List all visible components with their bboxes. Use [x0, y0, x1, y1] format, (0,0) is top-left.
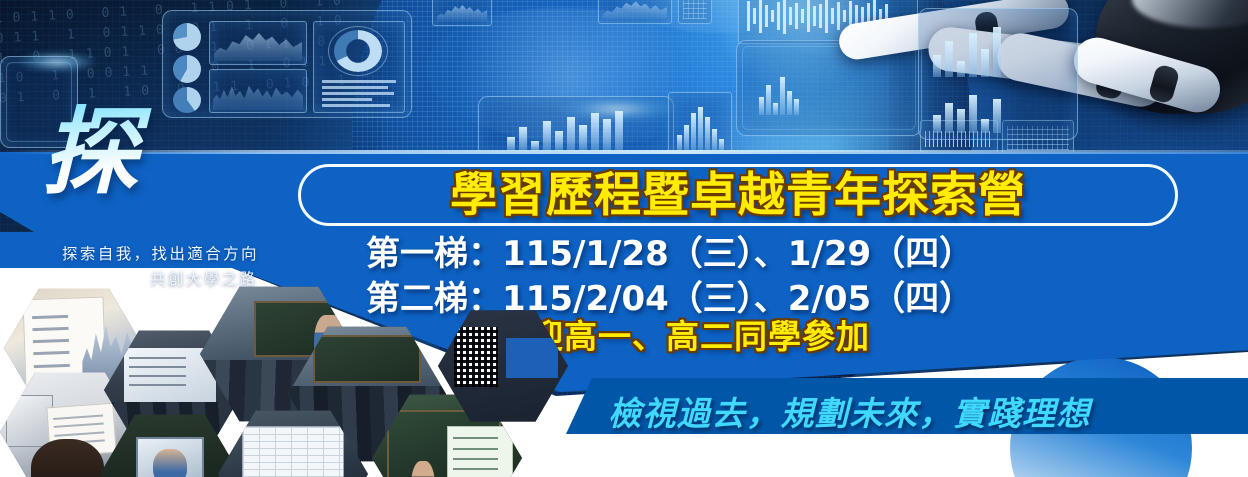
globe-bar-chart-panel — [478, 96, 674, 158]
hud-bar-chart — [759, 71, 799, 115]
event-title: 學習歷程暨卓越青年探索營 — [450, 172, 1026, 219]
hand-hud-bar-chart — [933, 25, 1001, 77]
hud-mini-panel-a — [432, 0, 492, 26]
donut-report-panel — [313, 21, 405, 113]
pie-chart-icon — [173, 23, 201, 51]
globe-bar-chart — [507, 109, 623, 151]
histogram-panel — [668, 92, 732, 158]
area-chart-panel — [209, 21, 307, 65]
desk-laptop — [6, 395, 54, 447]
area-chart — [214, 26, 302, 61]
explore-logo: 探索 — [42, 104, 264, 200]
hand-hud-overlay — [918, 8, 1078, 140]
signage-label — [506, 338, 558, 377]
video-speaker-face — [153, 449, 187, 477]
event-promo-banner: 10110 01 0 1101 0 10 011 1 0110 01 1 0 1… — [0, 0, 1248, 477]
donut-ring — [328, 26, 388, 76]
tagline-text: 檢視過去，規劃未來，實踐理想 — [608, 387, 1091, 435]
event-title-pill: 學習歷程暨卓越青年探索營 — [298, 164, 1178, 226]
pie-chart-icon-2 — [173, 55, 201, 83]
hud-frame-right — [736, 40, 922, 136]
logo-char-2: 索 — [166, 138, 264, 234]
hud-dashboard-panel — [162, 10, 412, 118]
hud-mini-panel-b — [598, 0, 672, 24]
qr-code-graphic — [454, 327, 498, 387]
mini-grid — [683, 0, 707, 19]
mini-area-chart — [437, 1, 487, 21]
mini-area-chart-2 — [603, 0, 667, 19]
session-date-1: 第一梯：115/1/28（三）、1/29（四） — [366, 232, 973, 277]
histogram-chart — [677, 105, 724, 151]
photo-collage — [0, 276, 520, 477]
hand-hud-bar-chart-2 — [933, 89, 1001, 133]
logo-char-1: 探 — [42, 96, 140, 208]
data-spreadsheet — [242, 426, 344, 477]
subtitle-line-1: 探索自我，找出適合方向 — [62, 245, 259, 263]
lecture-hall-board — [313, 335, 420, 383]
robot-palm-highlight — [1132, 0, 1248, 28]
report-text-lines — [322, 80, 396, 107]
hud-mini-grid-a — [678, 0, 712, 24]
green-slide — [447, 426, 513, 477]
